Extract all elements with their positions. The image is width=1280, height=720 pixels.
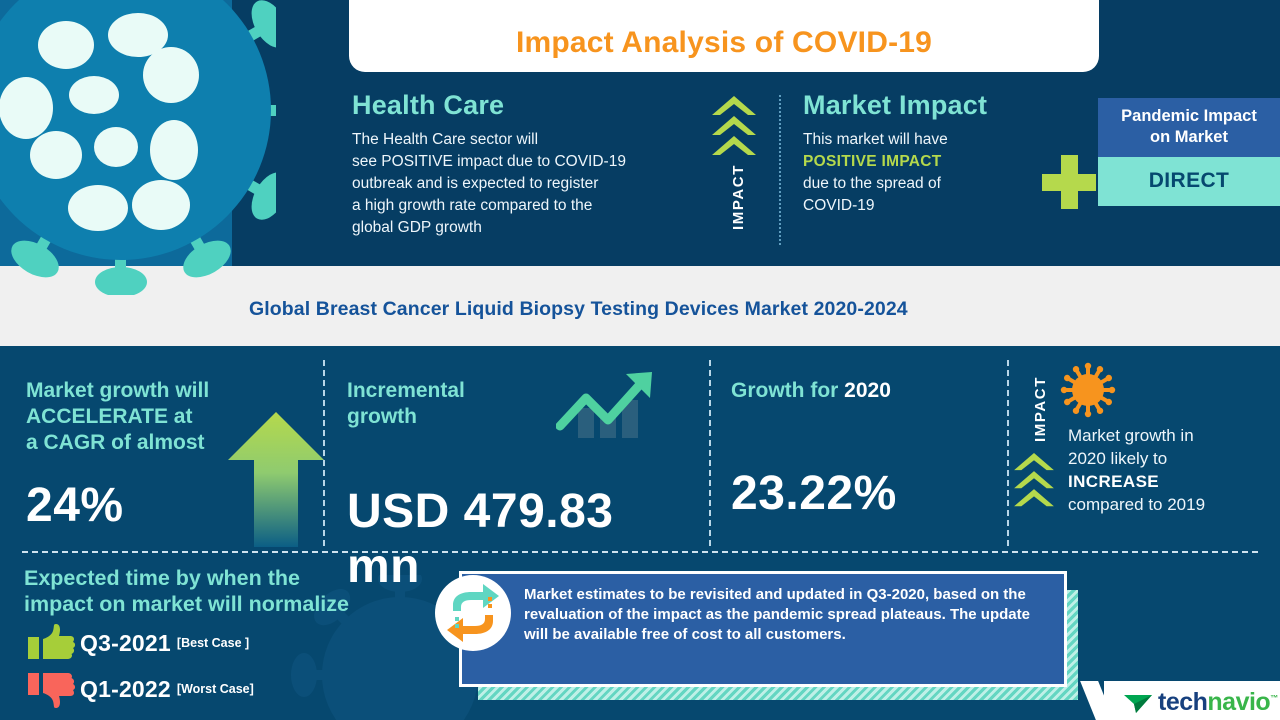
metric-cagr-label: Market growth will ACCELERATE at a CAGR … [26, 378, 236, 456]
growth-label-teal: Growth for [731, 379, 844, 402]
hc-line-3: outbreak and is expected to register [352, 175, 598, 192]
pandemic-impact-value: DIRECT [1098, 157, 1280, 206]
metric-growth-2020: Growth for 2020 23.22% [731, 378, 991, 521]
virus-dot-icon [1060, 362, 1116, 418]
impact-right-text: Market growth in 2020 likely to INCREASE… [1068, 425, 1276, 517]
growth-chart-icon [556, 368, 668, 438]
infographic-page: Impact Analysis of COVID-19 Health Care … [0, 0, 1280, 720]
expected-line-2: impact on market will normalize [24, 592, 349, 616]
cagr-line-3: a CAGR of almost [26, 431, 205, 454]
technavio-logo[interactable]: technavio™ [1124, 688, 1278, 717]
health-care-body: The Health Care sector will see POSITIVE… [352, 129, 702, 239]
ir-line-1: Market growth in [1068, 426, 1194, 445]
note-box: Market estimates to be revisited and upd… [459, 571, 1067, 687]
inc-line-1: Incremental [347, 379, 465, 402]
health-care-heading: Health Care [352, 90, 702, 121]
logo-text-tech: tech [1158, 688, 1207, 716]
market-impact-heading: Market Impact [803, 90, 1068, 121]
inc-line-2: growth [347, 405, 417, 428]
market-report-title: Global Breast Cancer Liquid Biopsy Testi… [249, 298, 908, 321]
up-arrow-icon [228, 412, 324, 547]
impact-badge-top: IMPACT [712, 96, 764, 235]
logo-text-navio: navio [1207, 688, 1270, 716]
metric-cagr: Market growth will ACCELERATE at a CAGR … [26, 378, 236, 533]
ir-highlight: INCREASE [1068, 472, 1159, 491]
triple-chevron-up-icon [712, 96, 756, 158]
hc-line-4: a high growth rate compared to the [352, 197, 592, 214]
pandemic-impact-title: Pandemic Impact on Market [1098, 98, 1280, 157]
logo-trademark: ™ [1270, 694, 1278, 703]
arrow-mark-icon [1124, 691, 1154, 715]
impact-badge-right: IMPACT [1014, 370, 1066, 509]
cagr-line-1: Market growth will [26, 379, 209, 402]
hc-line-2: see POSITIVE impact due to COVID-19 [352, 153, 626, 170]
plus-icon [1042, 155, 1096, 209]
expected-case-best: [Best Case ] [177, 636, 249, 650]
title-card: Impact Analysis of COVID-19 [349, 0, 1099, 72]
expected-case-worst: [Worst Case] [177, 682, 254, 696]
pandemic-impact-box: Pandemic Impact on Market DIRECT [1098, 98, 1280, 206]
ir-line-3: compared to 2019 [1068, 495, 1205, 514]
growth-label-year: 2020 [844, 379, 891, 402]
triple-chevron-up-icon-right [1014, 453, 1054, 509]
metric-growth-value: 23.22% [731, 466, 991, 521]
impact-label-top: IMPACT [730, 164, 747, 230]
refresh-cycle-icon [431, 571, 515, 655]
health-care-section: Health Care The Health Care sector will … [352, 90, 702, 239]
logo-text: technavio™ [1158, 688, 1278, 717]
cagr-line-2: ACCELERATE at [26, 405, 192, 428]
pandemic-title-line-2: on Market [1150, 128, 1228, 146]
mi-line-2: due to the spread of [803, 175, 941, 192]
hc-line-5: global GDP growth [352, 219, 482, 236]
metric-cagr-value: 24% [26, 478, 236, 533]
market-impact-body: This market will have POSITIVE IMPACT du… [803, 129, 1068, 217]
metric-growth-label: Growth for 2020 [731, 378, 991, 404]
expected-quarter-worst: Q1-2022 [80, 676, 171, 703]
expected-row-best: Q3-2021 [Best Case ] [24, 623, 414, 663]
expected-normalization-section: Expected time by when the impact on mark… [24, 565, 414, 709]
note-text: Market estimates to be revisited and upd… [462, 574, 1064, 645]
ir-line-2: 2020 likely to [1068, 449, 1167, 468]
mi-highlight: POSITIVE IMPACT [803, 153, 942, 170]
page-title: Impact Analysis of COVID-19 [516, 26, 932, 72]
expected-row-worst: Q1-2022 [Worst Case] [24, 669, 414, 709]
expected-line-1: Expected time by when the [24, 566, 300, 590]
impact-label-right: IMPACT [1032, 376, 1049, 442]
mi-line-3: COVID-19 [803, 197, 875, 214]
thumbs-down-icon [24, 669, 80, 709]
expected-heading: Expected time by when the impact on mark… [24, 565, 414, 617]
pandemic-title-line-1: Pandemic Impact [1121, 107, 1257, 125]
expected-quarter-best: Q3-2021 [80, 630, 171, 657]
hc-line-1: The Health Care sector will [352, 131, 538, 148]
top-vertical-divider [779, 95, 781, 245]
coronavirus-illustration-icon [0, 0, 276, 295]
mi-line-1: This market will have [803, 131, 948, 148]
market-impact-section: Market Impact This market will have POSI… [803, 90, 1068, 217]
thumbs-up-icon [24, 623, 80, 663]
